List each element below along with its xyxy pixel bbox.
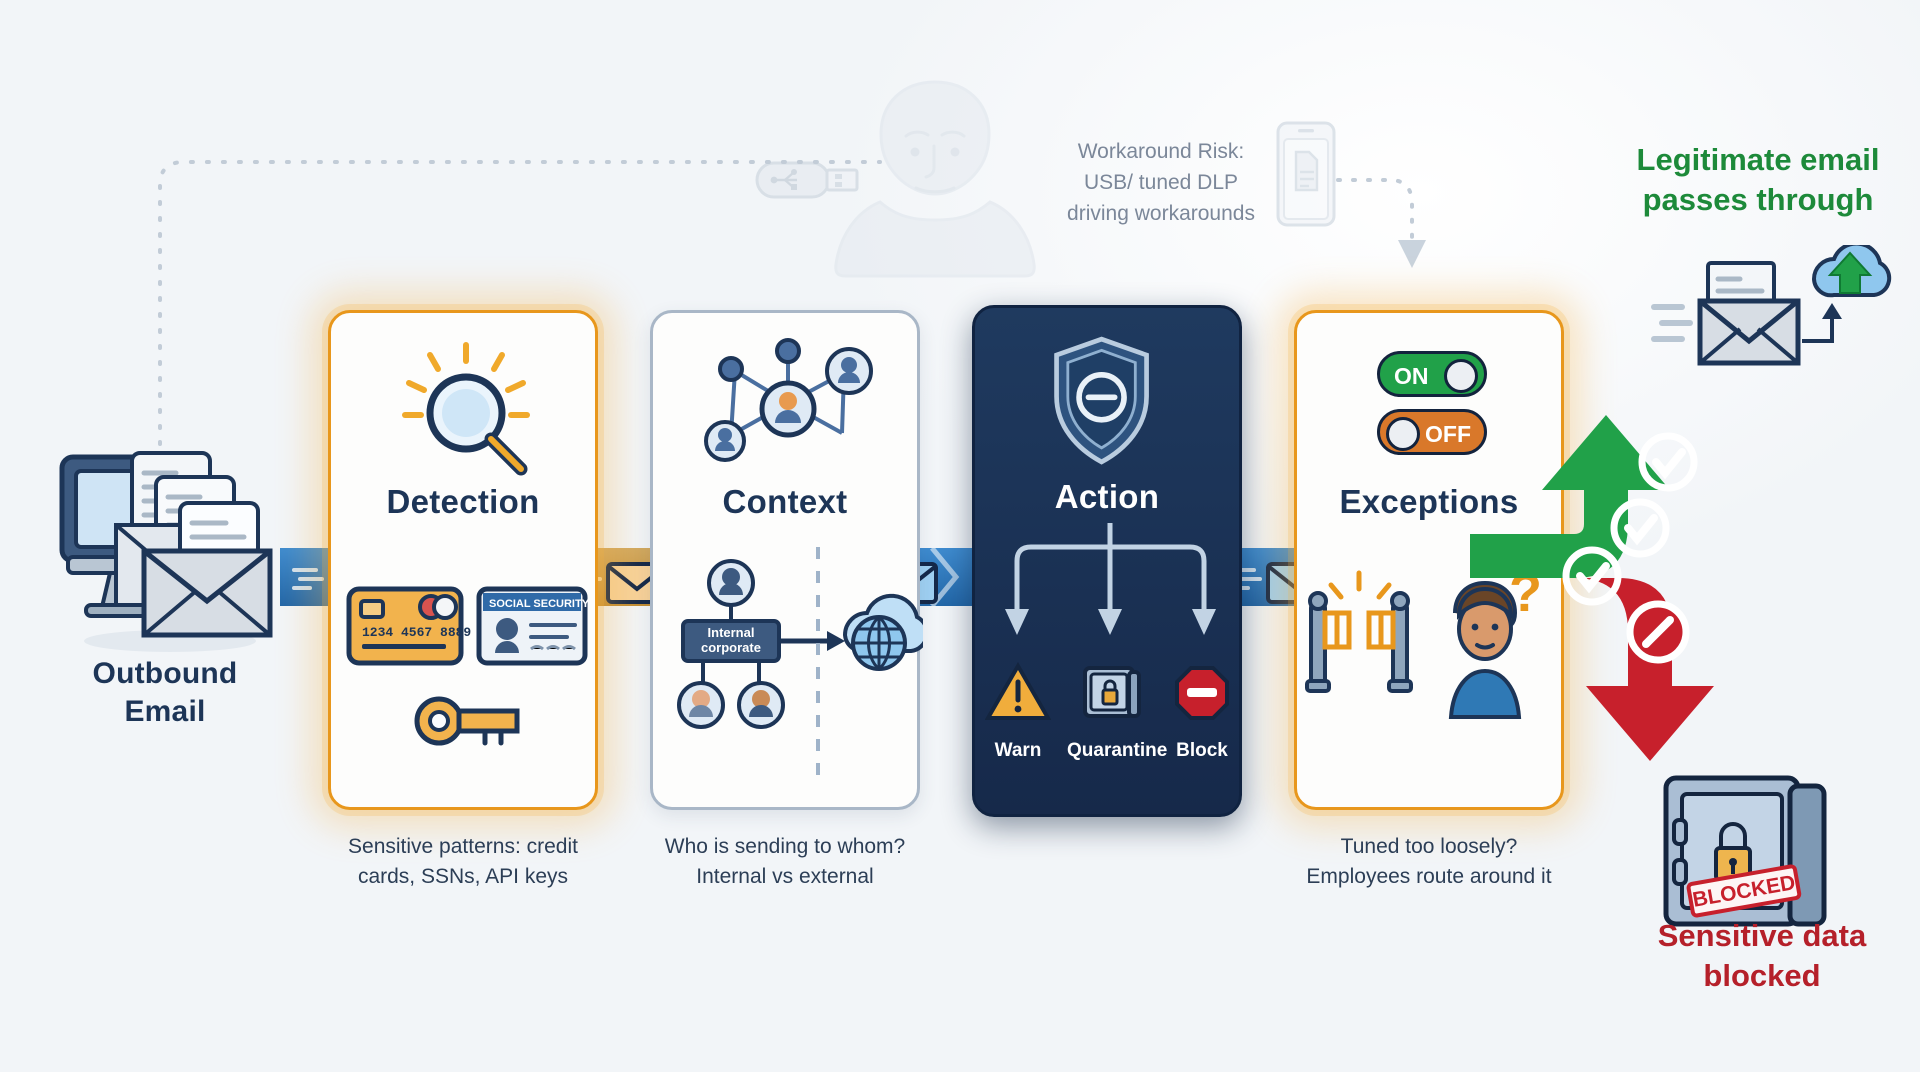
action-option-warn[interactable]: Warn xyxy=(973,662,1063,727)
action-label-quarantine: Quarantine xyxy=(1067,740,1157,762)
stage-caption-context: Who is sending to whom? Internal vs exte… xyxy=(653,832,917,892)
shield-block-icon xyxy=(975,326,1228,476)
network-people-icon xyxy=(653,331,923,481)
outbound-email-label: Outbound Email xyxy=(40,655,290,731)
stage-title-detection: Detection xyxy=(331,483,595,521)
stage-card-action[interactable]: Action Warn xyxy=(972,305,1242,817)
outbound-email-label-line2: Email xyxy=(40,693,290,731)
stage-caption-detection: Sensitive patterns: credit cards, SSNs, … xyxy=(331,832,595,892)
check-circle-icon xyxy=(1642,436,1694,488)
action-branch-arrows xyxy=(975,523,1245,648)
detection-sensitive-data-icons: 1234 4567 8889 7853 SOCIAL SECURITY xyxy=(331,531,601,801)
action-options-row: Warn Quarantine Block xyxy=(975,662,1239,792)
context-internal-external-icon: Internal corporate xyxy=(653,531,923,801)
social-security-card-label: SOCIAL SECURITY xyxy=(489,598,590,610)
outbound-email-label-line1: Outbound xyxy=(40,655,290,693)
workaround-risk-arrow xyxy=(1330,160,1460,290)
mobile-document-icon xyxy=(1275,120,1337,228)
stage-title-action: Action xyxy=(975,478,1239,516)
safe-blocked-icon: BLOCKED xyxy=(1648,760,1878,940)
stage-title-context: Context xyxy=(653,483,917,521)
diagram-canvas: Workaround Risk: USB/ tuned DLP driving … xyxy=(0,0,1920,1072)
internal-corporate-badge-line1: Internal xyxy=(708,625,755,640)
usb-drive-icon xyxy=(755,155,865,205)
stage-card-context[interactable]: Context Internal corporate xyxy=(650,310,920,810)
warning-triangle-icon xyxy=(985,662,1051,722)
stage-caption-exceptions: Tuned too loosely? Employees route aroun… xyxy=(1297,832,1561,892)
action-option-block[interactable]: Block xyxy=(1157,662,1247,727)
action-option-quarantine[interactable]: Quarantine xyxy=(1067,662,1157,727)
safe-lock-icon xyxy=(1079,662,1145,722)
outcome-blocked-text: Sensitive data blocked xyxy=(1658,918,1866,993)
outcome-split-arrows xyxy=(1470,400,1770,800)
toggle-on-icon[interactable]: ON xyxy=(1377,351,1487,397)
stage-card-detection[interactable]: Detection 1234 4567 8889 7853 SOCIAL SEC… xyxy=(328,310,598,810)
envelope-cloud-upload-icon xyxy=(1650,245,1910,385)
internal-corporate-badge-line2: corporate xyxy=(701,640,761,655)
action-label-block: Block xyxy=(1157,740,1247,762)
toggle-off-label: OFF xyxy=(1425,421,1471,448)
toggle-on-label: ON xyxy=(1394,363,1429,390)
outcome-label-blocked: Sensitive data blocked xyxy=(1612,916,1912,996)
workaround-risk-note: Workaround Risk: USB/ tuned DLP driving … xyxy=(1056,136,1266,229)
stop-sign-icon xyxy=(1169,662,1235,722)
outcome-pass-text: Legitimate email passes through xyxy=(1637,142,1880,217)
outcome-label-pass: Legitimate email passes through xyxy=(1608,140,1908,220)
action-label-warn: Warn xyxy=(973,740,1063,762)
outbound-email-icon xyxy=(52,445,292,655)
toggle-off-knob xyxy=(1386,417,1420,451)
toggle-on-knob xyxy=(1444,359,1478,393)
magnifier-icon xyxy=(331,331,601,481)
deny-circle-icon xyxy=(1630,604,1686,660)
